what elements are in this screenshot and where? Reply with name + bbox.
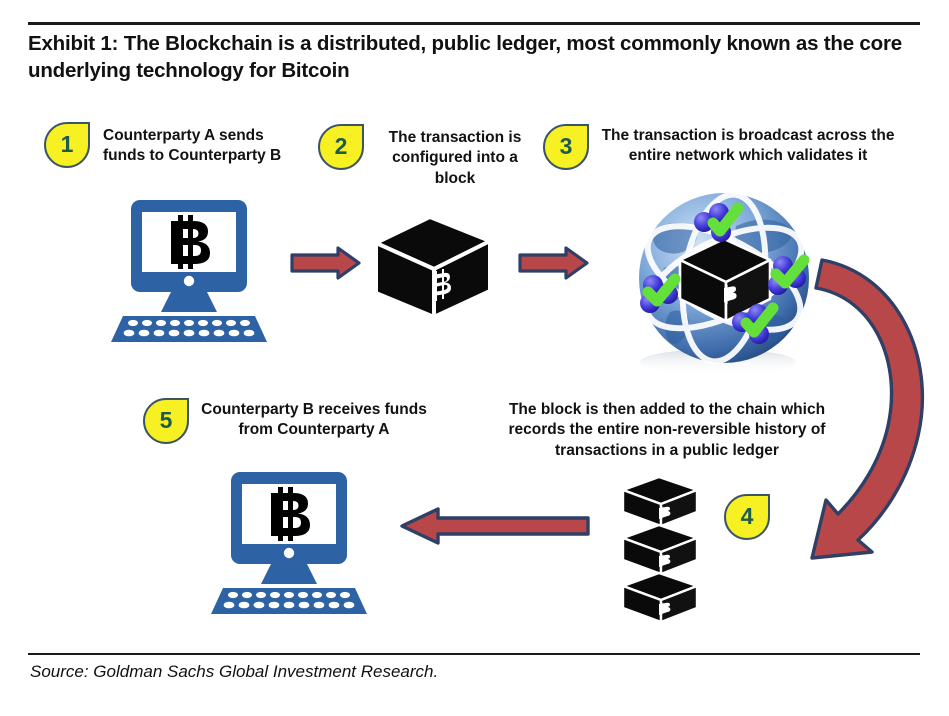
step-caption-1: Counterparty A sends funds to Counterpar… — [103, 126, 308, 167]
step-badge-5: 5 — [143, 398, 189, 444]
step-badge-3: 3 — [543, 124, 589, 170]
step-badge-1: 1 — [44, 122, 90, 168]
step-badge-2: 2 — [318, 124, 364, 170]
single-block-icon — [368, 205, 498, 328]
exhibit-page: Exhibit 1: The Blockchain is a distribut… — [0, 0, 949, 716]
arrow-right-1-icon — [290, 246, 362, 285]
header-divider — [28, 22, 920, 25]
step-badge-4-number: 4 — [741, 505, 754, 528]
step-caption-2: The transaction is configured into a blo… — [372, 128, 538, 189]
arrow-left-3-icon — [398, 506, 590, 551]
monitor-b-icon — [205, 468, 395, 621]
step-badge-4: 4 — [724, 494, 770, 540]
step-badge-1-number: 1 — [61, 133, 74, 156]
step-caption-4: The block is then added to the chain whi… — [487, 400, 847, 461]
step-caption-3: The transaction is broadcast across the … — [598, 126, 898, 167]
monitor-a-icon — [105, 196, 295, 349]
footer-divider — [28, 653, 920, 655]
monitor-a-svg — [105, 196, 295, 344]
step-badge-3-number: 3 — [560, 135, 573, 158]
step-caption-5: Counterparty B receives funds from Count… — [199, 400, 429, 441]
block-chain-stack-icon — [601, 476, 717, 627]
step-badge-5-number: 5 — [160, 409, 173, 432]
arrow-right-2-icon — [518, 246, 590, 285]
page-title: Exhibit 1: The Blockchain is a distribut… — [28, 30, 908, 84]
monitor-b-svg — [205, 468, 395, 616]
source-note: Source: Goldman Sachs Global Investment … — [30, 662, 438, 682]
step-badge-2-number: 2 — [335, 135, 348, 158]
